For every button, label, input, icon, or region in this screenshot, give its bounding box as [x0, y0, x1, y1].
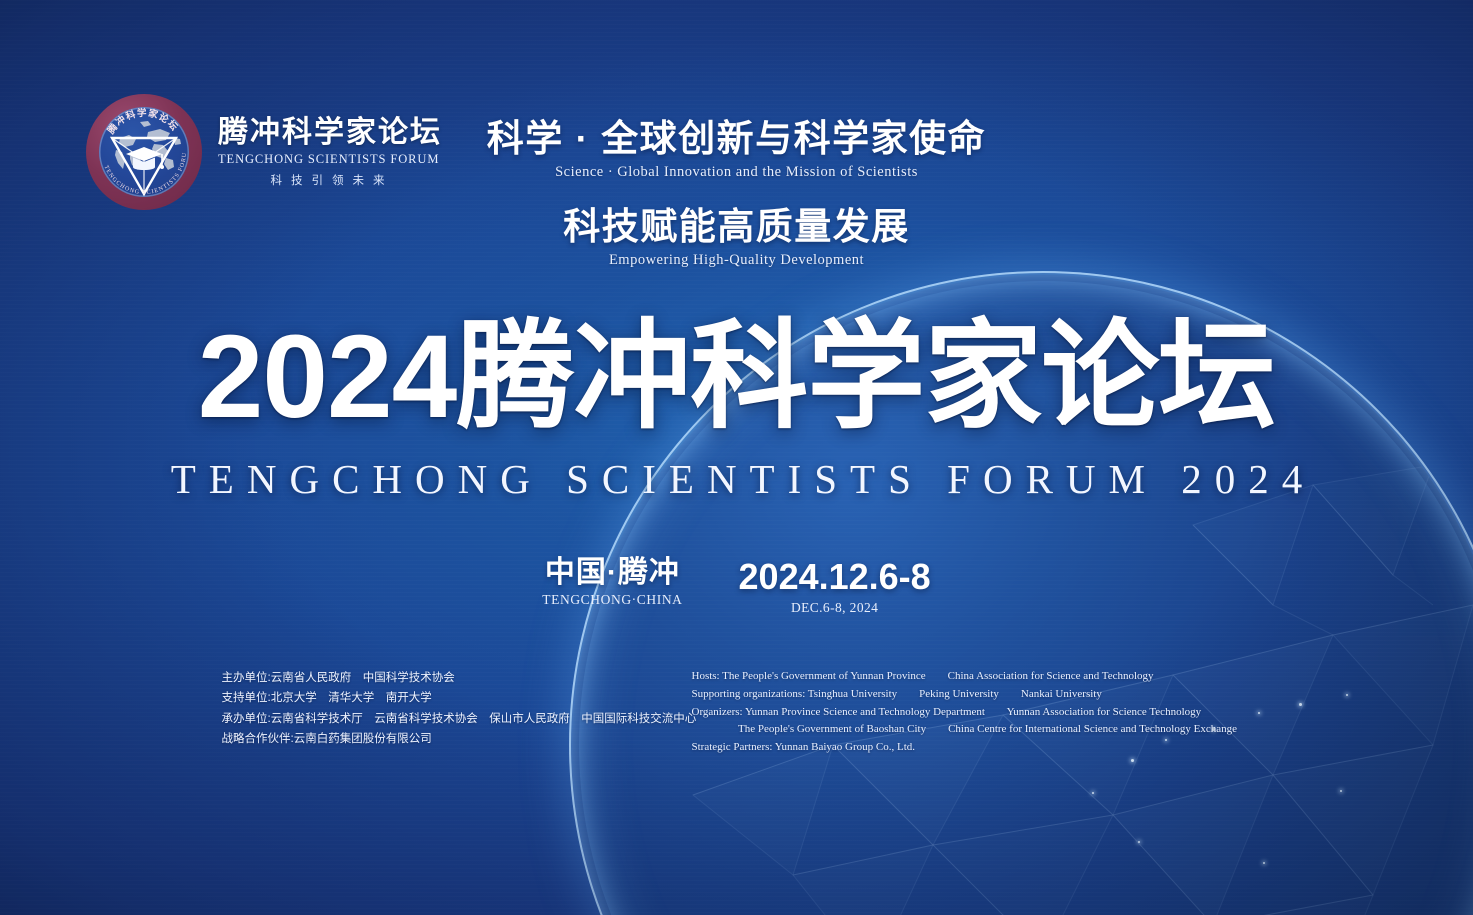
- date-primary: 2024.12.6-8: [739, 558, 931, 596]
- credits-english: Hosts: The People's Government of Yunnan…: [692, 668, 1252, 757]
- light-point: [1340, 790, 1342, 792]
- credits-block: 主办单位:云南省人民政府 中国科学技术协会 支持单位:北京大学 清华大学 南开大…: [0, 668, 1473, 757]
- credit-line: Supporting organizations: Tsinghua Unive…: [692, 686, 1252, 704]
- credit-line: 主办单位:云南省人民政府 中国科学技术协会: [222, 668, 652, 688]
- theme-line1-en: Science · Global Innovation and the Miss…: [0, 164, 1473, 181]
- light-point: [1263, 862, 1265, 864]
- date-block: 2024.12.6-8 DEC.6-8, 2024: [739, 556, 931, 616]
- place-cn: 中国·腾冲: [542, 556, 682, 590]
- theme-line2-en: Empowering High-Quality Development: [0, 252, 1473, 269]
- credits-chinese: 主办单位:云南省人民政府 中国科学技术协会 支持单位:北京大学 清华大学 南开大…: [222, 668, 652, 757]
- date-secondary: DEC.6-8, 2024: [739, 600, 931, 616]
- page-title: 2024腾冲科学家论坛: [0, 318, 1473, 436]
- place-block: 中国·腾冲 TENGCHONG·CHINA: [542, 556, 682, 608]
- event-meta: 中国·腾冲 TENGCHONG·CHINA 2024.12.6-8 DEC.6-…: [0, 556, 1473, 616]
- light-point: [1138, 841, 1140, 843]
- light-point: [1131, 759, 1134, 762]
- light-point: [1092, 792, 1094, 794]
- place-en: TENGCHONG·CHINA: [542, 592, 682, 608]
- credit-line: Organizers: Yunnan Province Science and …: [692, 704, 1252, 722]
- credit-line: 战略合作伙伴:云南白药集团股份有限公司: [222, 729, 652, 749]
- theme-line2-cn: 科技赋能高质量发展: [0, 204, 1473, 249]
- conference-poster: 腾冲科学家论坛 TENGCHONG SCIENTISTS FORUM 腾冲科学家…: [0, 0, 1473, 915]
- theme-block: 科学 · 全球创新与科学家使命 Science · Global Innovat…: [0, 116, 1473, 269]
- credit-line: Hosts: The People's Government of Yunnan…: [692, 668, 1252, 686]
- theme-line1-cn: 科学 · 全球创新与科学家使命: [0, 116, 1473, 161]
- credit-line: The People's Government of Baoshan City …: [692, 721, 1252, 739]
- theme-line-2: 科技赋能高质量发展 Empowering High-Quality Develo…: [0, 204, 1473, 269]
- credit-line: 承办单位:云南省科学技术厅 云南省科学技术协会 保山市人民政府 中国国际科技交流…: [222, 709, 652, 729]
- credit-line: 支持单位:北京大学 清华大学 南开大学: [222, 688, 652, 708]
- credit-line: Strategic Partners: Yunnan Baiyao Group …: [692, 739, 1252, 757]
- theme-line-1: 科学 · 全球创新与科学家使命 Science · Global Innovat…: [0, 116, 1473, 181]
- page-title-en: TENGCHONG SCIENTISTS FORUM 2024: [0, 455, 1473, 503]
